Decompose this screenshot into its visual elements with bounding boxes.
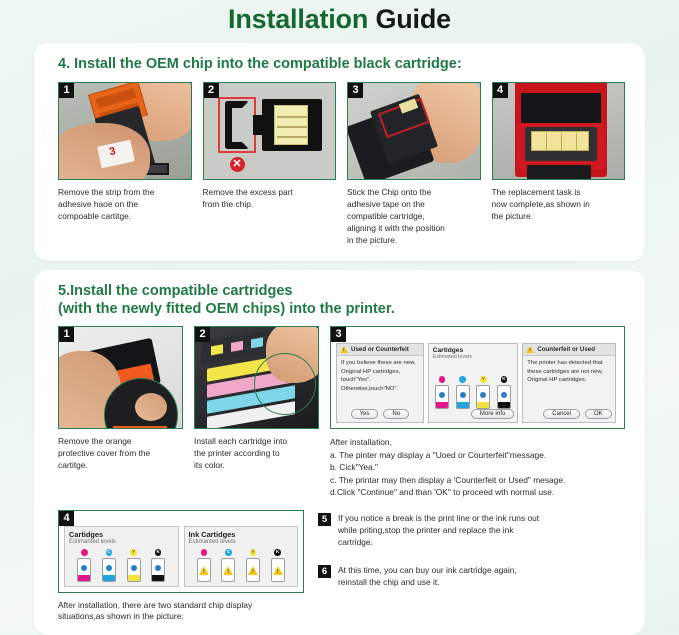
- ink-magenta: [77, 549, 91, 582]
- installed-chip-shape: [531, 131, 589, 151]
- step-4-1: 1 Remove the strip from the adhesive hao…: [58, 82, 192, 247]
- warning-icon: [223, 566, 233, 575]
- dialog-counterfeit-title: Counterfeit or Used: [537, 346, 595, 353]
- black-tank: [151, 558, 165, 582]
- panel-right-subtitle: Estimanted levels: [189, 539, 294, 545]
- bottom-row: 4 Cartidges Estimanted levels C: [54, 510, 625, 623]
- step-caption-5-2: Install each cartridge into the printer …: [194, 436, 319, 472]
- dialog-counterfeit-or-used: Counterfeit or Used The printer has dete…: [522, 343, 615, 423]
- ink-black: K: [497, 376, 511, 409]
- step-badge-5-2: 2: [195, 327, 210, 342]
- black-tank: [497, 385, 511, 409]
- warning-icon: [340, 346, 348, 353]
- magenta-tank: [435, 385, 449, 409]
- panel-left-inks: C Y K: [69, 547, 174, 582]
- ok-button[interactable]: OK: [585, 409, 612, 419]
- dialog-row: Used or Counterfeit If you believe these…: [336, 343, 619, 423]
- levels-header: Cartidges Estimated levels: [429, 344, 518, 361]
- levels-subtitle: Estimated levels: [433, 354, 514, 360]
- ink-cyan: C: [102, 549, 116, 582]
- step-5-2: 2 Install each cartridge into the printe…: [194, 326, 319, 472]
- section-5-heading-line1: 5.Install the compatible cartridges: [58, 282, 625, 300]
- step-badge-5-1: 1: [59, 327, 74, 342]
- black-dot-icon: K: [501, 376, 508, 383]
- photo-complete-cartridge: 4: [492, 82, 626, 180]
- dialog-counterfeit-buttons: Cancel OK: [523, 407, 614, 422]
- bottom-left-block: 4 Cartidges Estimanted levels C: [58, 510, 304, 623]
- highlight-circle: [254, 353, 316, 415]
- step-badge-6: 6: [318, 565, 331, 578]
- yes-button[interactable]: Yes: [351, 409, 379, 419]
- photo-install-cartridges: 2: [194, 326, 319, 429]
- black-dot-icon: K: [274, 549, 281, 556]
- black-dot-icon: K: [155, 549, 162, 556]
- page-title: Installation Guide: [0, 0, 679, 35]
- section-4-heading: 4. Install the OEM chip into the compati…: [58, 55, 625, 73]
- magenta-tank-warning: [197, 558, 211, 582]
- step-badge-5-3: 3: [331, 327, 346, 342]
- dialog-used-buttons: Yes No: [337, 407, 423, 422]
- ink-levels-row: Y K: [429, 361, 518, 409]
- step-badge-3: 3: [348, 83, 363, 98]
- magenta-dot-icon: [201, 549, 208, 556]
- ink-yellow-warning: Y: [246, 549, 260, 582]
- magenta-dot-icon: [439, 376, 446, 383]
- cyan-tank: [456, 385, 470, 409]
- bottom-steps: 5 If you notice a break is the print lin…: [318, 510, 625, 603]
- gold-chip-shape: [274, 105, 308, 145]
- dialog-used-or-counterfeit: Used or Counterfeit If you believe these…: [336, 343, 424, 423]
- step-badge-1: 1: [59, 83, 74, 98]
- step-badge-2: 2: [204, 83, 219, 98]
- warning-icon: [199, 566, 209, 575]
- yellow-tank: [127, 558, 141, 582]
- photo-stick-chip: 3: [347, 82, 481, 180]
- section-4-steps-row: 1 Remove the strip from the adhesive hao…: [54, 82, 625, 247]
- step-5-item: 5 If you notice a break is the print lin…: [318, 512, 625, 549]
- ink-yellow: Y: [476, 376, 490, 409]
- yellow-dot-icon: Y: [480, 376, 487, 383]
- step-badge-4: 4: [493, 83, 508, 98]
- photo-remove-orange-cover: 1: [58, 326, 183, 429]
- after-installation-note: After installation, a. The pinter may di…: [330, 436, 625, 499]
- cancel-button[interactable]: Cancel: [543, 409, 580, 419]
- step-caption-3: Stick the Chip onto the adhesive tape on…: [347, 187, 481, 247]
- cyan-dot-icon: C: [225, 549, 232, 556]
- photo-remove-strip: 1: [58, 82, 192, 180]
- yellow-dot-icon: Y: [250, 549, 257, 556]
- section-5-card: 5.Install the compatible cartridges (wit…: [34, 270, 645, 635]
- cyan-tank-warning: [221, 558, 235, 582]
- dialog-cartridge-levels: Cartidges Estimated levels: [428, 343, 519, 423]
- more-info-button[interactable]: More Info: [471, 409, 514, 419]
- ink-black: K: [151, 549, 165, 582]
- warning-icon: [248, 566, 258, 575]
- step-badge-5: 5: [318, 513, 331, 526]
- ink-black-warning: K: [271, 549, 285, 582]
- step-6-text: At this time, you can buy our ink cartri…: [338, 564, 517, 588]
- cyan-dot-icon: [459, 376, 466, 383]
- chip-display-panel: 4 Cartidges Estimanted levels C: [58, 510, 304, 593]
- panel-cartridges-normal: Cartidges Estimanted levels C: [64, 526, 179, 587]
- ink-magenta-warning: [197, 549, 211, 582]
- excess-part-shape: [225, 101, 249, 149]
- section-4-card: 4. Install the OEM chip into the compati…: [34, 43, 645, 261]
- panel-right-title: Ink Cartidges: [189, 530, 294, 539]
- section-5-heading: 5.Install the compatible cartridges (wit…: [58, 282, 625, 318]
- section-5-steps-row: 1 Remove the orange protective cover fro…: [54, 326, 625, 499]
- panel-ink-cartridges-warning: Ink Cartidges Estimanted levels C: [184, 526, 299, 587]
- step-caption-2: Remove the excess part from the chip.: [203, 187, 337, 211]
- yellow-tank-warning: [246, 558, 260, 582]
- panel-right-inks: C Y K: [189, 547, 294, 582]
- photo-remove-excess: 2 ✕: [203, 82, 337, 180]
- dialog-used-title: Used or Counterfeit: [351, 346, 409, 353]
- section-5-heading-line2: (with the newly fitted OEM chips) into t…: [58, 300, 625, 318]
- dialog-counterfeit-header: Counterfeit or Used: [523, 344, 614, 356]
- panel-left-subtitle: Estimanted levels: [69, 539, 174, 545]
- warning-icon: [273, 566, 283, 575]
- black-tank-warning: [271, 558, 285, 582]
- step-5-text: If you notice a break is the print line …: [338, 512, 539, 549]
- ink-magenta: [435, 376, 449, 409]
- title-installation: Installation: [228, 4, 368, 34]
- step-4-2: 2 ✕ Remove the excess part from the chip…: [203, 82, 337, 247]
- cross-icon: ✕: [230, 157, 245, 172]
- step-4-3: 3 Stick the Chip onto the adhesive tape …: [347, 82, 481, 247]
- magenta-tank: [77, 558, 91, 582]
- step-5-1: 1 Remove the orange protective cover fro…: [58, 326, 183, 472]
- no-button[interactable]: No: [383, 409, 409, 419]
- ink-cyan: [456, 376, 470, 409]
- bottom-caption: After installation, there are two standa…: [58, 600, 304, 624]
- panel-left-title: Cartidges: [69, 530, 174, 539]
- step-6-item: 6 At this time, you can buy our ink cart…: [318, 564, 625, 588]
- title-guide: Guide: [368, 4, 451, 34]
- step-caption-1: Remove the strip from the adhesive haoe …: [58, 187, 192, 223]
- dialog-used-header: Used or Counterfeit: [337, 344, 423, 356]
- chip-holder-shape: [262, 99, 322, 151]
- step-5-3: 3 Used or Counterfeit If you believe the…: [330, 326, 625, 499]
- cartridge-base-shape: [527, 165, 591, 180]
- step-4-4: 4 The replacement task is now complete,a…: [492, 82, 626, 247]
- yellow-tank: [476, 385, 490, 409]
- more-info-row: More Info: [429, 409, 518, 422]
- yellow-dot-icon: Y: [130, 549, 137, 556]
- levels-title: Cartidges: [433, 347, 514, 354]
- step-caption-5-1: Remove the orange protective cover from …: [58, 436, 183, 472]
- warning-icon: [526, 346, 534, 353]
- printer-screens-panel: 3 Used or Counterfeit If you believe the…: [330, 326, 625, 429]
- ink-yellow: Y: [127, 549, 141, 582]
- cyan-dot-icon: C: [106, 549, 113, 556]
- magenta-dot-icon: [81, 549, 88, 556]
- dialog-used-body: If you believe these are new, Original H…: [337, 356, 423, 407]
- ink-cyan-warning: C: [221, 549, 235, 582]
- cyan-tank: [102, 558, 116, 582]
- two-panel-row: Cartidges Estimanted levels C: [64, 526, 298, 587]
- dialog-counterfeit-body: The printer has detected that these cart…: [523, 356, 614, 407]
- step-badge-4-bottom: 4: [59, 511, 74, 526]
- step-caption-4: The replacement task is now complete,as …: [492, 187, 626, 223]
